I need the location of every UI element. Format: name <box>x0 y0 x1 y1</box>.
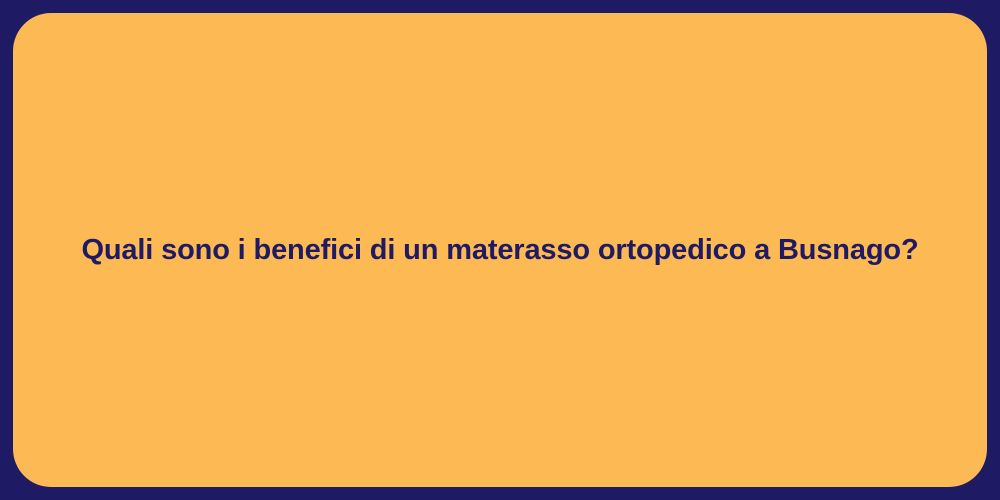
banner-frame: Quali sono i benefici di un materasso or… <box>0 0 1000 500</box>
banner-headline: Quali sono i benefici di un materasso or… <box>13 232 987 268</box>
banner-panel: Quali sono i benefici di un materasso or… <box>13 13 987 487</box>
